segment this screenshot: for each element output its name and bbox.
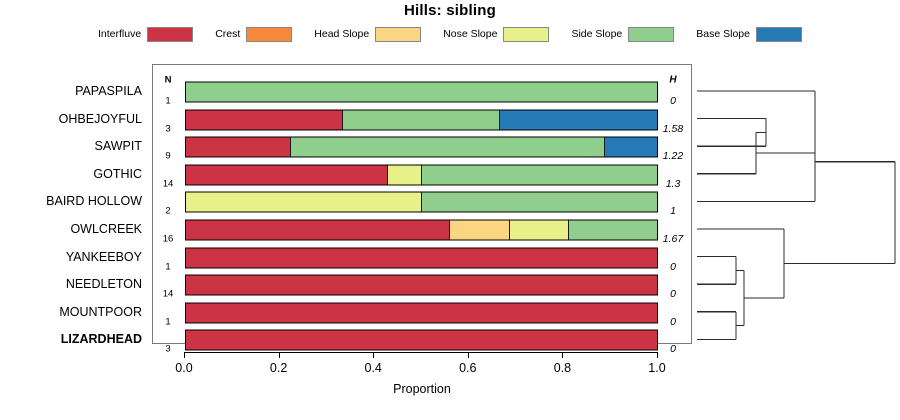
category-label-yankeeboy: YANKEEBOY xyxy=(66,250,142,264)
row-n-value: 1 xyxy=(165,96,170,107)
row-h-value: 0 xyxy=(670,316,676,328)
stacked-bar-ohbejoyful[interactable] xyxy=(185,109,658,130)
bar-segment-interfluve[interactable] xyxy=(186,331,657,350)
bar-segment-nose-slope[interactable] xyxy=(387,165,421,184)
bar-segment-base-slope[interactable] xyxy=(499,110,657,129)
x-tick xyxy=(468,352,469,358)
row-h-value: 1.22 xyxy=(663,150,683,162)
x-tick-label: 0.6 xyxy=(459,361,476,375)
n-column-header: N xyxy=(165,75,172,86)
row-n-value: 14 xyxy=(163,178,174,189)
bar-segment-side-slope[interactable] xyxy=(421,165,657,184)
bar-segment-side-slope[interactable] xyxy=(568,221,657,240)
row-n-value: 3 xyxy=(165,123,170,134)
bar-segment-interfluve[interactable] xyxy=(186,110,342,129)
chart-root: Hills: sibling InterfluveCrestHead Slope… xyxy=(0,0,900,420)
row-h-value: 1.3 xyxy=(666,178,681,190)
legend-item-interfluve[interactable]: Interfluve xyxy=(98,27,193,42)
legend-item-head-slope[interactable]: Head Slope xyxy=(314,27,421,42)
bar-segment-interfluve[interactable] xyxy=(186,248,657,267)
row-h-value: 1.67 xyxy=(663,233,683,245)
legend: InterfluveCrestHead SlopeNose SlopeSide … xyxy=(0,24,900,44)
row-n-value: 16 xyxy=(163,234,174,245)
dendrogram-tree xyxy=(692,64,900,344)
row-n-value: 1 xyxy=(165,261,170,272)
row-n-value: 14 xyxy=(163,289,174,300)
bar-segment-base-slope[interactable] xyxy=(604,138,657,157)
plot-panel: NH1031.5891.22141.321161.67101401030 xyxy=(152,64,692,344)
row-n-value: 1 xyxy=(165,316,170,327)
x-tick xyxy=(373,352,374,358)
stacked-bar-papaspila[interactable] xyxy=(185,82,658,103)
x-tick-label: 0.2 xyxy=(270,361,287,375)
row-h-value: 0 xyxy=(670,288,676,300)
x-axis: 0.00.20.40.60.81.0 xyxy=(152,352,692,354)
bar-segment-interfluve[interactable] xyxy=(186,138,290,157)
legend-item-label: Crest xyxy=(215,28,240,40)
x-axis-line xyxy=(184,352,657,353)
x-tick-label: 0.8 xyxy=(554,361,571,375)
legend-item-label: Interfluve xyxy=(98,28,141,40)
legend-swatch xyxy=(147,27,193,42)
category-label-papaspila: PAPASPILA xyxy=(75,84,142,98)
stacked-bar-gothic[interactable] xyxy=(185,164,658,185)
bar-segment-head-slope[interactable] xyxy=(449,221,509,240)
bar-segment-side-slope[interactable] xyxy=(342,110,499,129)
category-label-sawpit: SAWPIT xyxy=(95,139,142,153)
x-tick-label: 0.4 xyxy=(364,361,381,375)
category-label-needleton: NEEDLETON xyxy=(66,277,142,291)
stacked-bar-yankeeboy[interactable] xyxy=(185,247,658,268)
category-label-mountpoor: MOUNTPOOR xyxy=(59,305,142,319)
stacked-bar-mountpoor[interactable] xyxy=(185,302,658,323)
bar-segment-nose-slope[interactable] xyxy=(509,221,569,240)
bar-segment-interfluve[interactable] xyxy=(186,221,449,240)
row-h-value: 1.58 xyxy=(663,123,683,135)
row-h-value: 0 xyxy=(670,261,676,273)
category-label-ohbejoyful: OHBEJOYFUL xyxy=(59,112,142,126)
row-n-value: 9 xyxy=(165,151,170,162)
stacked-bar-owlcreek[interactable] xyxy=(185,220,658,241)
row-n-value: 2 xyxy=(165,206,170,217)
legend-item-base-slope[interactable]: Base Slope xyxy=(696,27,802,42)
legend-swatch xyxy=(756,27,802,42)
bar-segment-interfluve[interactable] xyxy=(186,276,657,295)
stacked-bar-lizardhead[interactable] xyxy=(185,330,658,351)
category-label-owlcreek: OWLCREEK xyxy=(70,222,142,236)
legend-item-crest[interactable]: Crest xyxy=(215,27,292,42)
row-h-value: 1 xyxy=(670,205,676,217)
x-axis-title: Proportion xyxy=(152,382,692,396)
bar-segment-interfluve[interactable] xyxy=(186,303,657,322)
category-label-gothic: GOTHIC xyxy=(93,167,142,181)
legend-swatch xyxy=(628,27,674,42)
bar-segment-nose-slope[interactable] xyxy=(186,193,421,212)
x-tick-label: 0.0 xyxy=(175,361,192,375)
legend-swatch xyxy=(503,27,549,42)
x-tick xyxy=(562,352,563,358)
category-label-baird-hollow: BAIRD HOLLOW xyxy=(46,194,142,208)
stacked-bar-baird-hollow[interactable] xyxy=(185,192,658,213)
category-axis-labels: PAPASPILAOHBEJOYFULSAWPITGOTHICBAIRD HOL… xyxy=(0,64,148,344)
bar-segment-side-slope[interactable] xyxy=(290,138,604,157)
x-tick xyxy=(279,352,280,358)
bar-segment-side-slope[interactable] xyxy=(421,193,657,212)
category-label-lizardhead: LIZARDHEAD xyxy=(61,332,142,346)
stacked-bar-needleton[interactable] xyxy=(185,275,658,296)
legend-item-label: Base Slope xyxy=(696,28,750,40)
row-h-value: 0 xyxy=(670,95,676,107)
legend-item-label: Side Slope xyxy=(571,28,622,40)
bar-segment-interfluve[interactable] xyxy=(186,165,387,184)
x-tick xyxy=(184,352,185,358)
legend-swatch xyxy=(246,27,292,42)
x-tick-label: 1.0 xyxy=(648,361,665,375)
stacked-bar-sawpit[interactable] xyxy=(185,137,658,158)
chart-title: Hills: sibling xyxy=(0,2,900,19)
legend-item-side-slope[interactable]: Side Slope xyxy=(571,27,674,42)
legend-item-label: Nose Slope xyxy=(443,28,497,40)
legend-item-nose-slope[interactable]: Nose Slope xyxy=(443,27,549,42)
dendrogram xyxy=(692,64,900,344)
x-tick xyxy=(657,352,658,358)
legend-item-label: Head Slope xyxy=(314,28,369,40)
bar-segment-side-slope[interactable] xyxy=(186,83,657,102)
h-column-header: H xyxy=(669,75,676,86)
legend-swatch xyxy=(375,27,421,42)
